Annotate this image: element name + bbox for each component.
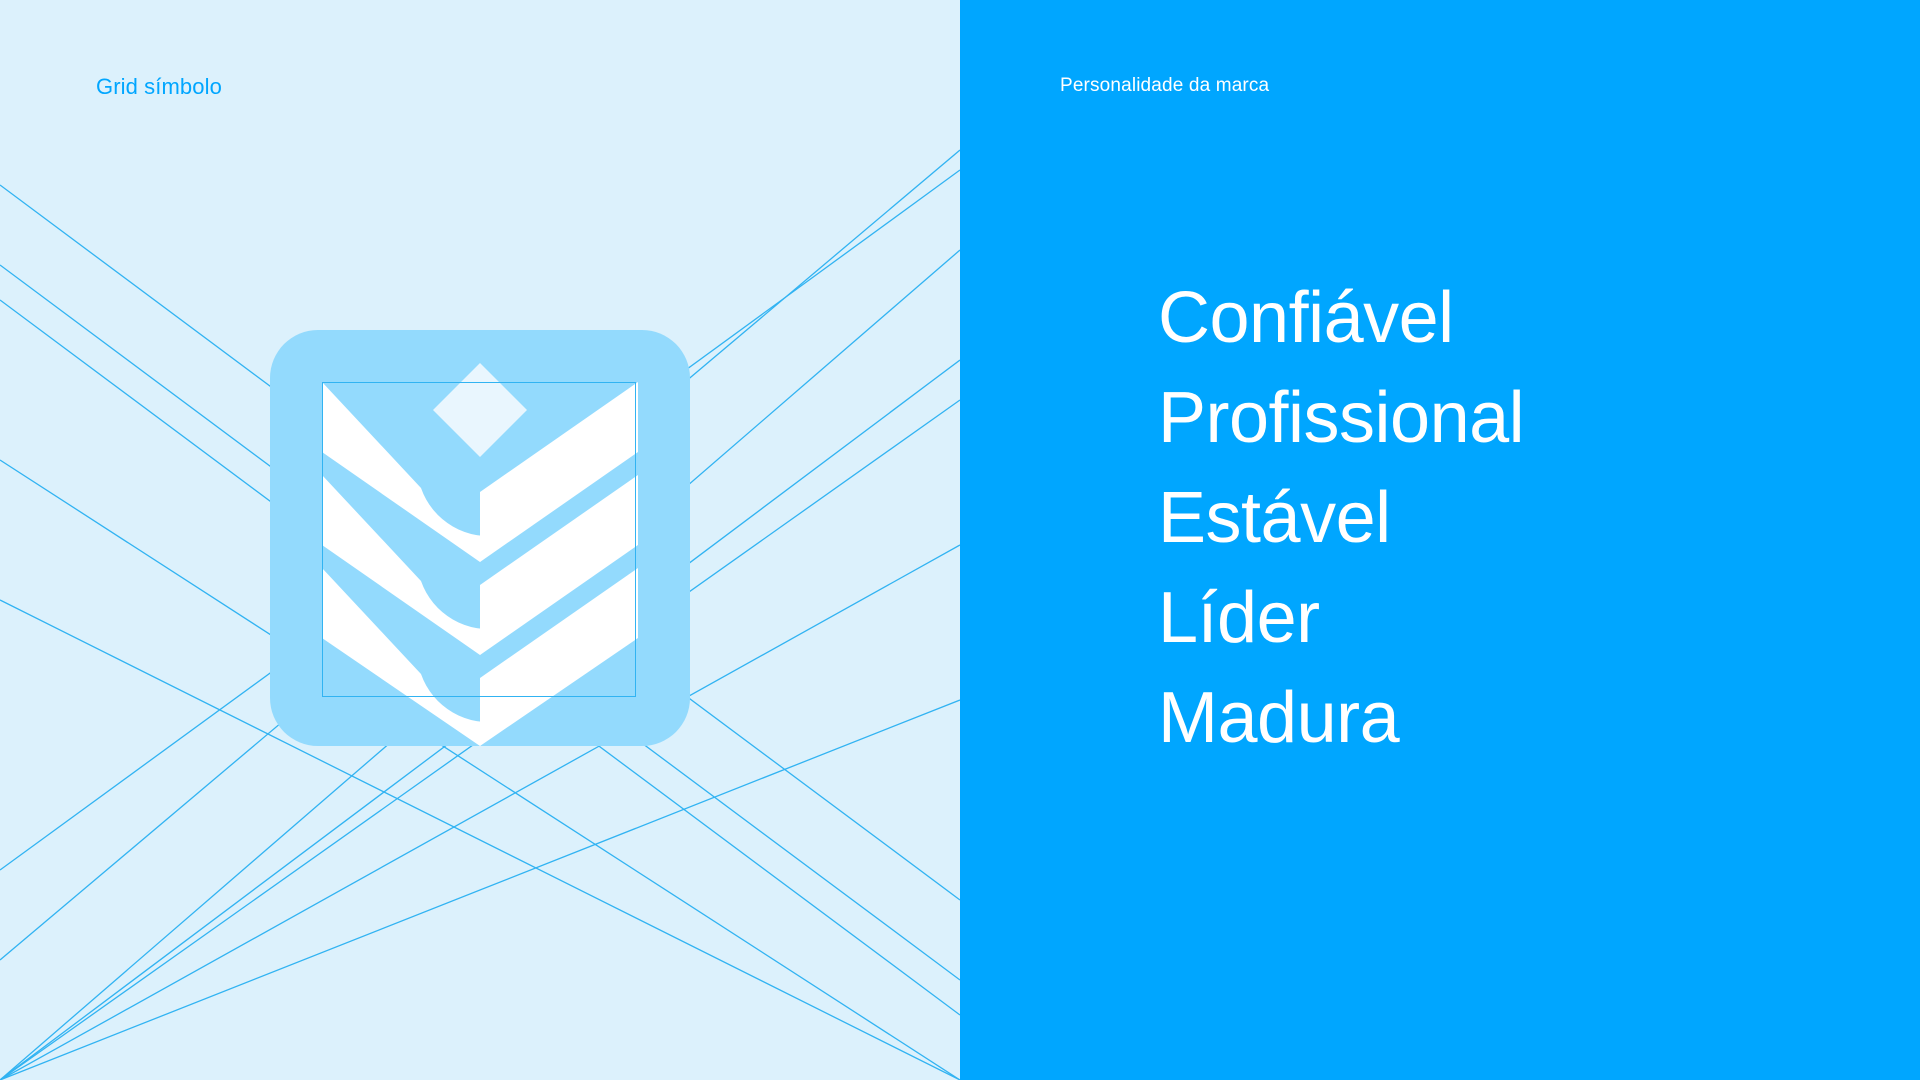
list-item: Estável [1158, 468, 1524, 568]
brand-personality-panel-title: Personalidade da marca [1060, 74, 1269, 98]
brand-traits-list: Confiável Profissional Estável Líder Mad… [1158, 268, 1524, 768]
list-item: Confiável [1158, 268, 1524, 368]
brand-personality-panel: Personalidade da marca Confiável Profiss… [960, 0, 1920, 1080]
grid-symbol-panel: Grid símbolo [0, 0, 960, 1080]
list-item: Profissional [1158, 368, 1524, 468]
guide-line-ascending-5 [0, 700, 960, 1080]
logo-construction-group [270, 330, 690, 746]
list-item: Líder [1158, 568, 1524, 668]
list-item: Madura [1158, 668, 1524, 768]
symbol-diamond-accent [433, 363, 527, 457]
brand-guidelines-slide: Grid símbolo [0, 0, 1920, 1080]
grid-symbol-panel-title: Grid símbolo [96, 74, 222, 100]
brand-symbol-mark [270, 330, 690, 746]
